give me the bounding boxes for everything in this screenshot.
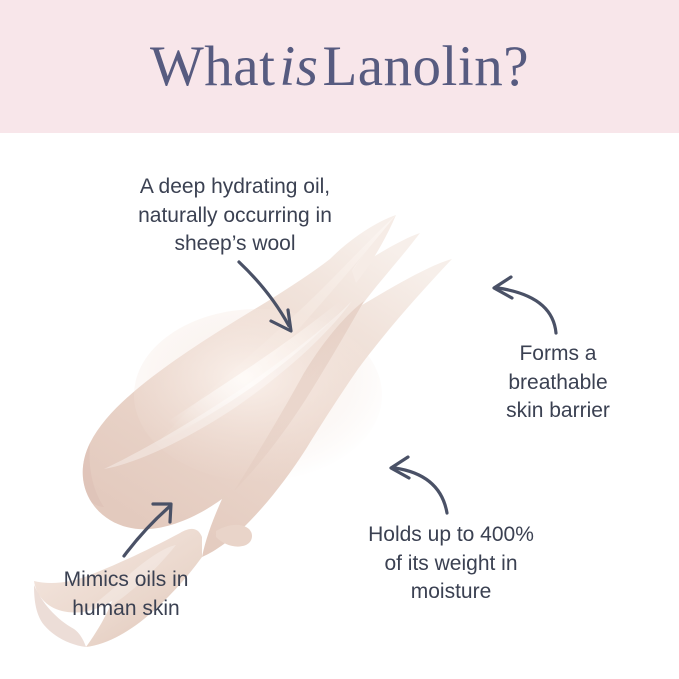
- lanolin-infographic: What is Lanolin?: [0, 0, 679, 679]
- page-title-suffix: Lanolin?: [322, 34, 529, 99]
- callout-breathable-barrier: Forms a breathable skin barrier: [483, 340, 633, 426]
- callout-holds-moisture: Holds up to 400% of its weight in moistu…: [337, 521, 565, 607]
- page-title-emphasis: is: [275, 34, 322, 99]
- page-title-prefix: What: [150, 34, 275, 99]
- callout-deep-hydrating-oil: A deep hydrating oil, naturally occurrin…: [97, 173, 373, 259]
- page-title: What is Lanolin?: [0, 0, 679, 133]
- callout-mimics-skin-oils: Mimics oils in human skin: [38, 566, 214, 623]
